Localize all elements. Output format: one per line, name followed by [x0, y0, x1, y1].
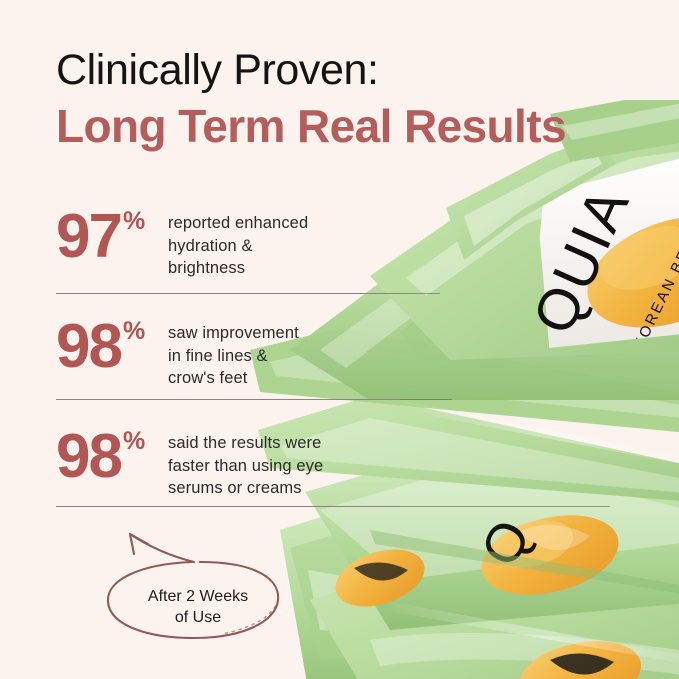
- stat-1-description-line-3: brightness: [168, 257, 308, 280]
- stat-1-percent-sign: %: [123, 209, 145, 234]
- stat-3-divider: [56, 506, 400, 507]
- stat-3-description-line-3: serums or creams: [168, 477, 323, 500]
- stat-1-value-group: 97 %: [56, 206, 168, 268]
- stat-3-percent-sign: %: [123, 429, 145, 454]
- callout-line-1: After 2 Weeks: [118, 586, 278, 607]
- stat-2-divider: [56, 399, 400, 400]
- stat-2-number: 98: [56, 316, 121, 378]
- stat-2-divider-extension: [400, 399, 452, 400]
- stat-3-divider-extension: [400, 506, 610, 507]
- headline-line-2: Long Term Real Results: [56, 98, 616, 154]
- stat-2-description-line-3: crow's feet: [168, 367, 299, 390]
- infographic-canvas: Q: [0, 0, 679, 679]
- stat-1-divider-extension: [400, 293, 440, 294]
- stat-3-number: 98: [56, 426, 121, 488]
- stat-2-description: saw improvement in fine lines & crow's f…: [168, 316, 299, 390]
- stat-3-description: said the results were faster than using …: [168, 426, 323, 500]
- callout-line-2: of Use: [118, 607, 278, 628]
- stat-1-description: reported enhanced hydration & brightness: [168, 206, 308, 280]
- stat-1-number: 97: [56, 206, 121, 268]
- stat-1-description-line-1: reported enhanced: [168, 212, 308, 235]
- product-sachets-illustration: Q: [250, 100, 679, 679]
- stat-2-value-group: 98 %: [56, 316, 168, 378]
- stat-1-description-line-2: hydration &: [168, 235, 308, 258]
- stat-row-3: 98 % said the results were faster than u…: [56, 426, 323, 500]
- product-photo: Q: [250, 100, 679, 679]
- stat-3-value-group: 98 %: [56, 426, 168, 488]
- headline-block: Clinically Proven: Long Term Real Result…: [56, 44, 616, 154]
- stat-row-1: 97 % reported enhanced hydration & brigh…: [56, 206, 308, 280]
- stat-3-description-line-1: said the results were: [168, 432, 323, 455]
- stat-2-percent-sign: %: [123, 319, 145, 344]
- stat-1-divider: [56, 293, 400, 294]
- stat-2-description-line-1: saw improvement: [168, 322, 299, 345]
- stat-row-2: 98 % saw improvement in fine lines & cro…: [56, 316, 299, 390]
- callout-text-block: After 2 Weeks of Use: [118, 586, 278, 628]
- callout-block: After 2 Weeks of Use: [82, 528, 312, 668]
- stat-2-description-line-2: in fine lines &: [168, 345, 299, 368]
- stat-3-description-line-2: faster than using eye: [168, 455, 323, 478]
- headline-line-1: Clinically Proven:: [56, 44, 616, 96]
